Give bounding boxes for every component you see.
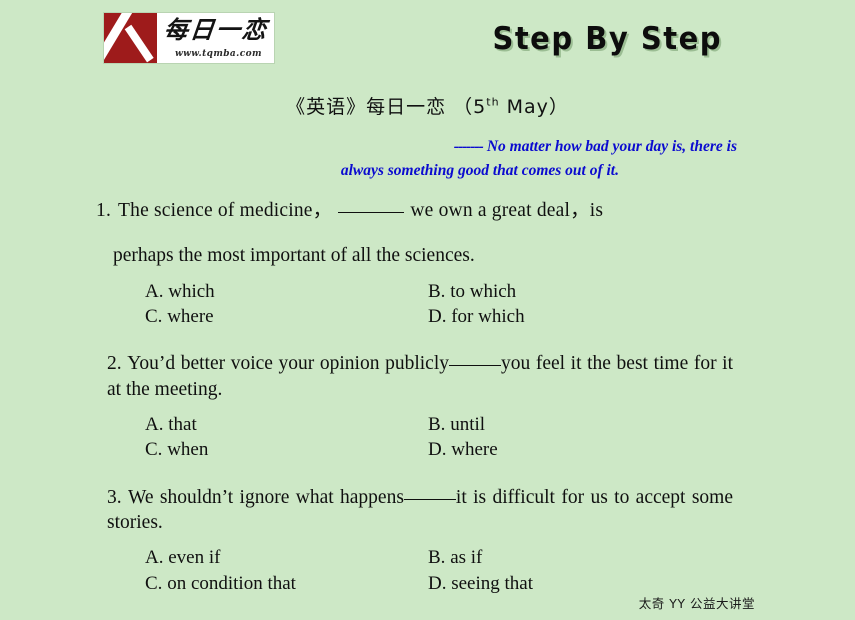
question-2: 2. You’d better voice your opinion publi… — [0, 351, 855, 462]
option-d-label: where — [451, 439, 497, 460]
option-b-label: to which — [450, 281, 516, 302]
question-3-text-before: We shouldn’t ignore what happens — [128, 487, 404, 508]
page-title: 《英语》每日一恋 （5th May） — [0, 92, 855, 119]
question-1-text-after: we own a great deal，is — [410, 200, 603, 221]
logo-panel: 每日一恋 www.tqmba.com — [157, 13, 274, 63]
option-a-label: which — [168, 281, 214, 302]
option-a-label: even if — [168, 547, 220, 568]
option-row: A. even if B. as if — [145, 545, 855, 570]
option-a-key: A. — [145, 281, 163, 302]
option-c[interactable]: C. when — [145, 437, 428, 462]
brand-title: Step By Step — [492, 20, 722, 57]
option-c-key: C. — [145, 306, 162, 327]
quote-line-1: -------No matter how bad your day is, th… — [0, 135, 737, 159]
page-title-superscript: th — [486, 96, 499, 109]
quote-dashes: ------- — [454, 138, 483, 155]
footer-text: 太奇 YY 公益大讲堂 — [639, 593, 755, 612]
question-3-text: 3. We shouldn’t ignore what happensit is… — [0, 485, 855, 536]
tqmba-logo: 每日一恋 www.tqmba.com — [103, 12, 275, 64]
option-c-key: C. — [145, 573, 162, 594]
logo-url-text: www.tqmba.com — [175, 49, 262, 59]
question-2-options: A. that B. until C. when D. where — [0, 412, 855, 463]
question-1-blank — [338, 212, 404, 213]
question-2-number: 2. — [107, 353, 122, 374]
question-1-line-2: perhaps the most important of all the sc… — [0, 244, 855, 269]
question-3-options: A. even if B. as if C. on condition that… — [0, 545, 855, 596]
option-c-key: C. — [145, 439, 162, 460]
page-title-prefix: 《英语》每日一恋 （5 — [286, 96, 486, 118]
option-b-label: until — [450, 414, 485, 435]
option-a-key: A. — [145, 414, 163, 435]
option-d-label: seeing that — [451, 573, 533, 594]
quote-line-2: always something good that comes out of … — [0, 159, 737, 183]
question-1-options: A. which B. to which C. where D. for whi… — [0, 279, 855, 330]
option-b[interactable]: B. to which — [428, 279, 516, 304]
question-1: 1.The science of medicine，we own a great… — [0, 199, 855, 329]
question-1-text-before: The science of medicine， — [118, 200, 332, 221]
option-a-label: that — [168, 414, 197, 435]
option-c-label: on condition that — [167, 573, 296, 594]
question-3-number: 3. — [107, 487, 122, 508]
option-b-key: B. — [428, 547, 445, 568]
option-a[interactable]: A. which — [145, 279, 428, 304]
slide-header: 每日一恋 www.tqmba.com Step By Step — [0, 0, 855, 72]
option-d[interactable]: D. for which — [428, 304, 525, 329]
option-a[interactable]: A. even if — [145, 545, 428, 570]
question-3: 3. We shouldn’t ignore what happensit is… — [0, 485, 855, 596]
question-1-number: 1. — [96, 200, 111, 221]
question-1-line-1: 1.The science of medicine，we own a great… — [0, 199, 855, 224]
option-a[interactable]: A. that — [145, 412, 428, 437]
option-d-key: D. — [428, 573, 446, 594]
quote-text-1: No matter how bad your day is, there is — [487, 138, 737, 155]
option-b[interactable]: B. as if — [428, 545, 482, 570]
option-b-label: as if — [450, 547, 482, 568]
option-d[interactable]: D. seeing that — [428, 571, 533, 596]
option-row: C. when D. where — [145, 437, 855, 462]
option-d-key: D. — [428, 306, 446, 327]
option-row: A. which B. to which — [145, 279, 855, 304]
option-a-key: A. — [145, 547, 163, 568]
logo-stroke-left — [125, 25, 154, 63]
option-c-label: when — [167, 439, 208, 460]
option-b-key: B. — [428, 281, 445, 302]
option-c[interactable]: C. where — [145, 304, 428, 329]
option-b-key: B. — [428, 414, 445, 435]
daily-quote: -------No matter how bad your day is, th… — [0, 135, 855, 183]
option-d-label: for which — [451, 306, 524, 327]
logo-calligraphy-text: 每日一恋 — [162, 14, 271, 46]
option-c[interactable]: C. on condition that — [145, 571, 428, 596]
option-b[interactable]: B. until — [428, 412, 485, 437]
option-d[interactable]: D. where — [428, 437, 498, 462]
logo-mark-icon — [104, 13, 157, 63]
question-2-text-before: You’d better voice your opinion publicly — [127, 353, 449, 374]
questions-list: 1.The science of medicine，we own a great… — [0, 199, 855, 596]
question-2-text: 2. You’d better voice your opinion publi… — [0, 351, 855, 402]
option-d-key: D. — [428, 439, 446, 460]
page-title-suffix: May） — [500, 96, 569, 118]
option-row: A. that B. until — [145, 412, 855, 437]
option-c-label: where — [167, 306, 213, 327]
question-2-blank — [449, 365, 501, 366]
question-3-blank — [404, 499, 456, 500]
option-row: C. where D. for which — [145, 304, 855, 329]
